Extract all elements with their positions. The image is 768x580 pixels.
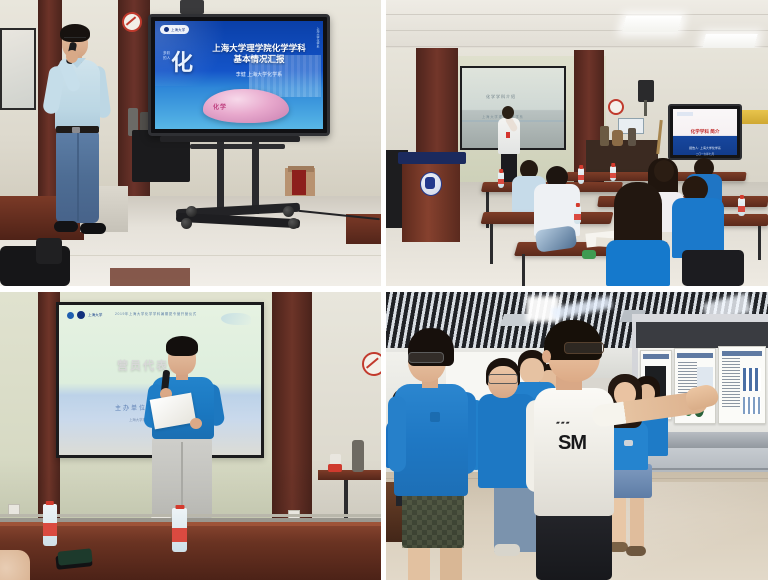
student-arm — [388, 396, 406, 472]
student-shoe — [626, 546, 646, 556]
vase-icon — [628, 128, 636, 146]
photo-panel-bottom-right: ▰▰▰ SM — [386, 292, 768, 580]
poster-text-block — [722, 358, 740, 408]
lanyard-badge — [506, 132, 510, 138]
wall-speaker-icon — [180, 0, 204, 14]
poster-header-bar — [722, 351, 763, 356]
bottle-label — [738, 206, 745, 212]
presentation-slide: 上海大学 多彩的人 化 上海大学理学院化学学科 基本情况汇报 李健 上海大学化学… — [155, 21, 323, 129]
water-bottle — [498, 172, 504, 188]
slide-subtitle: 李健 上海大学化学系 — [207, 71, 311, 78]
office-chair-back — [36, 238, 62, 264]
slide-logo-bar — [677, 112, 693, 116]
tv-cart-shelf — [190, 144, 285, 149]
slide-wave-graphic — [221, 313, 251, 325]
bottle-label — [574, 214, 581, 220]
attendee-torso — [606, 240, 670, 286]
logo-mark-icon — [164, 27, 169, 32]
green-item — [582, 250, 596, 259]
caster-wheel-icon — [283, 206, 294, 217]
poster-bar-chart — [743, 368, 761, 391]
conference-table — [0, 522, 381, 580]
eyeglasses-icon — [564, 342, 604, 354]
tshirt-top-print: ▰▰▰ — [556, 420, 571, 426]
slide-vertical-text: 上海大学化学系 — [316, 27, 320, 48]
slide-header: 2019年上海大学化学学科暑期夏令营开营仪式 — [115, 311, 197, 316]
lectern-top — [398, 152, 466, 164]
water-bottle — [578, 168, 584, 184]
student-leg — [408, 546, 430, 580]
bottle-label — [498, 179, 504, 184]
ceiling-grid-line — [386, 14, 768, 15]
student-face — [520, 358, 544, 384]
floor-edge — [0, 514, 381, 517]
water-bottle — [738, 198, 745, 216]
logo-text: 上海大学 — [88, 313, 102, 318]
bottle-label — [172, 528, 187, 542]
poster-header-bar — [643, 354, 669, 359]
lectern — [402, 152, 460, 242]
person-shoe — [54, 221, 78, 232]
person-shoe — [80, 223, 106, 234]
logo-text: 上海大学 — [171, 27, 185, 32]
belt-buckle — [72, 127, 80, 133]
chair-back — [682, 250, 744, 286]
water-bottle — [172, 508, 187, 552]
logo-mark-icon — [67, 312, 74, 319]
cabinet-seam — [634, 468, 768, 470]
attendee-torso — [672, 198, 724, 258]
wall-speaker-icon — [638, 80, 654, 102]
photo-panel-top-right: 化学学科介绍 上海大学理学院化学系 化学学科 简介 报告人: 上海大学化学系 二… — [386, 0, 768, 286]
wall-tv-display: 化学学科 简介 报告人: 上海大学化学系 二〇一九年七月 — [668, 104, 742, 160]
student-leg — [630, 496, 644, 548]
red-box — [292, 170, 306, 195]
wall-dark-band — [636, 322, 768, 348]
floor-mat — [110, 268, 190, 286]
photo-panel-top-left: 上海大学 多彩的人 化 上海大学理学院化学学科 基本情况汇报 李健 上海大学化学… — [0, 0, 381, 286]
university-logo: 上海大学 — [67, 311, 102, 319]
screen-title: 化学学科介绍 — [486, 94, 516, 100]
water-bottle — [574, 206, 581, 224]
speaker-bracket — [644, 100, 647, 116]
research-poster — [718, 346, 766, 424]
desk-leg — [490, 224, 493, 264]
person-hand — [66, 50, 78, 63]
whiteboard — [0, 28, 36, 110]
foreground-hand — [0, 550, 30, 580]
bottle-label — [610, 173, 616, 178]
no-smoking-icon — [122, 12, 142, 32]
tv-cart-pole — [217, 142, 224, 214]
water-bottle — [43, 504, 57, 546]
emblem-inner-mark — [425, 177, 435, 189]
bottle-label — [43, 523, 57, 536]
guide-trousers — [536, 510, 612, 580]
slide-title: 上海大学理学院化学学科 基本情况汇报 — [207, 43, 311, 65]
paper-cup-band — [328, 464, 342, 472]
thermos-icon — [352, 440, 364, 472]
tv-slide: 化学学科 简介 报告人: 上海大学化学系 二〇一九年七月 — [673, 109, 737, 155]
ceiling-light — [702, 34, 757, 48]
logo-seal-icon — [77, 311, 85, 319]
slide-title-line1: 上海大学理学院化学学科 — [212, 43, 306, 53]
person-hair — [166, 336, 198, 356]
slide-big-character: 化 — [171, 45, 193, 77]
tshirt-print-text: SM — [558, 432, 586, 455]
slide-rock-text: 化学 — [213, 102, 227, 111]
tv-slide-line2: 报告人: 上海大学化学系 — [673, 146, 737, 150]
student-legs — [494, 484, 536, 552]
side-table — [318, 470, 381, 480]
desk-leg — [522, 254, 525, 286]
table-edge — [0, 522, 381, 526]
camo-pattern — [402, 490, 464, 548]
water-bottle — [610, 166, 616, 181]
collage-horizontal-gap — [0, 286, 768, 292]
photo-collage: 上海大学 多彩的人 化 上海大学理学院化学学科 基本情况汇报 李健 上海大学化学… — [0, 0, 768, 580]
eyeglasses-icon — [408, 352, 444, 363]
desk-leg — [758, 226, 761, 260]
tshirt-pocket — [430, 412, 440, 422]
caster-wheel-icon — [181, 218, 192, 229]
poster-header-bar — [677, 353, 712, 358]
ceiling-grid-line — [386, 30, 768, 31]
jeans-seam — [77, 133, 79, 221]
person-hand — [190, 418, 202, 429]
student-shoe — [494, 544, 520, 556]
vase-icon — [612, 130, 623, 146]
ceiling-light — [622, 16, 682, 32]
bottle-label — [578, 175, 584, 180]
guide-ear — [542, 350, 551, 363]
wristwatch-icon — [624, 440, 633, 446]
presenter-head — [502, 106, 514, 119]
slide-title-line2: 基本情况汇报 — [233, 54, 284, 64]
poster-bar-chart — [743, 397, 761, 414]
no-smoking-icon — [608, 99, 624, 115]
student-leg — [612, 496, 626, 546]
attendee-head — [654, 160, 674, 182]
eyeglasses-icon — [488, 374, 518, 384]
vase-icon — [600, 126, 609, 146]
caster-wheel-icon — [186, 206, 197, 217]
tv-cart-pole — [252, 142, 259, 214]
no-smoking-icon — [362, 352, 381, 376]
tv-slide-title: 化学学科 简介 — [673, 129, 737, 135]
photo-panel-bottom-left: 上海大学 2019年上海大学化学学科暑期夏令营开营仪式 营员代表发言 主办单位:… — [0, 292, 381, 580]
tv-slide-line3: 二〇一九年七月 — [673, 152, 737, 156]
tv-display: 上海大学 多彩的人 化 上海大学理学院化学学科 基本情况汇报 李健 上海大学化学… — [148, 14, 330, 136]
tv-cart-top — [160, 136, 300, 142]
student-leg — [440, 546, 462, 580]
university-logo: 上海大学 — [160, 25, 189, 34]
caster-wheel-icon — [288, 218, 299, 229]
yellow-wall-sign — [742, 110, 768, 124]
